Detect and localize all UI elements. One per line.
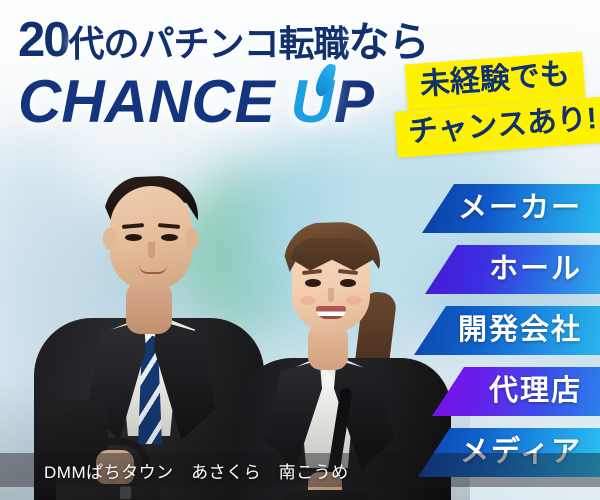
category-label-hall: ホール [489,255,582,284]
pachinko-job-ad-banner: 20代のパチンコ転職なら CHANCEUP 未経験でも チャンスあり! メーカー… [0,0,600,500]
credit-strip: DMMぱちタウン あさくら 南こうめ [0,453,600,487]
category-list: メーカー ホール 開発会社 代理店 メディア [0,0,600,500]
category-item-hall[interactable]: ホール [425,245,600,294]
category-item-agency[interactable]: 代理店 [432,367,600,416]
credit-text: DMMぱちタウン あさくら 南こうめ [44,458,349,483]
category-label-maker: メーカー [458,194,582,223]
category-item-development-company[interactable]: 開発会社 [414,306,600,355]
category-label-agency: 代理店 [489,377,582,406]
category-label-development-company: 開発会社 [458,316,582,345]
category-item-maker[interactable]: メーカー [422,184,600,233]
